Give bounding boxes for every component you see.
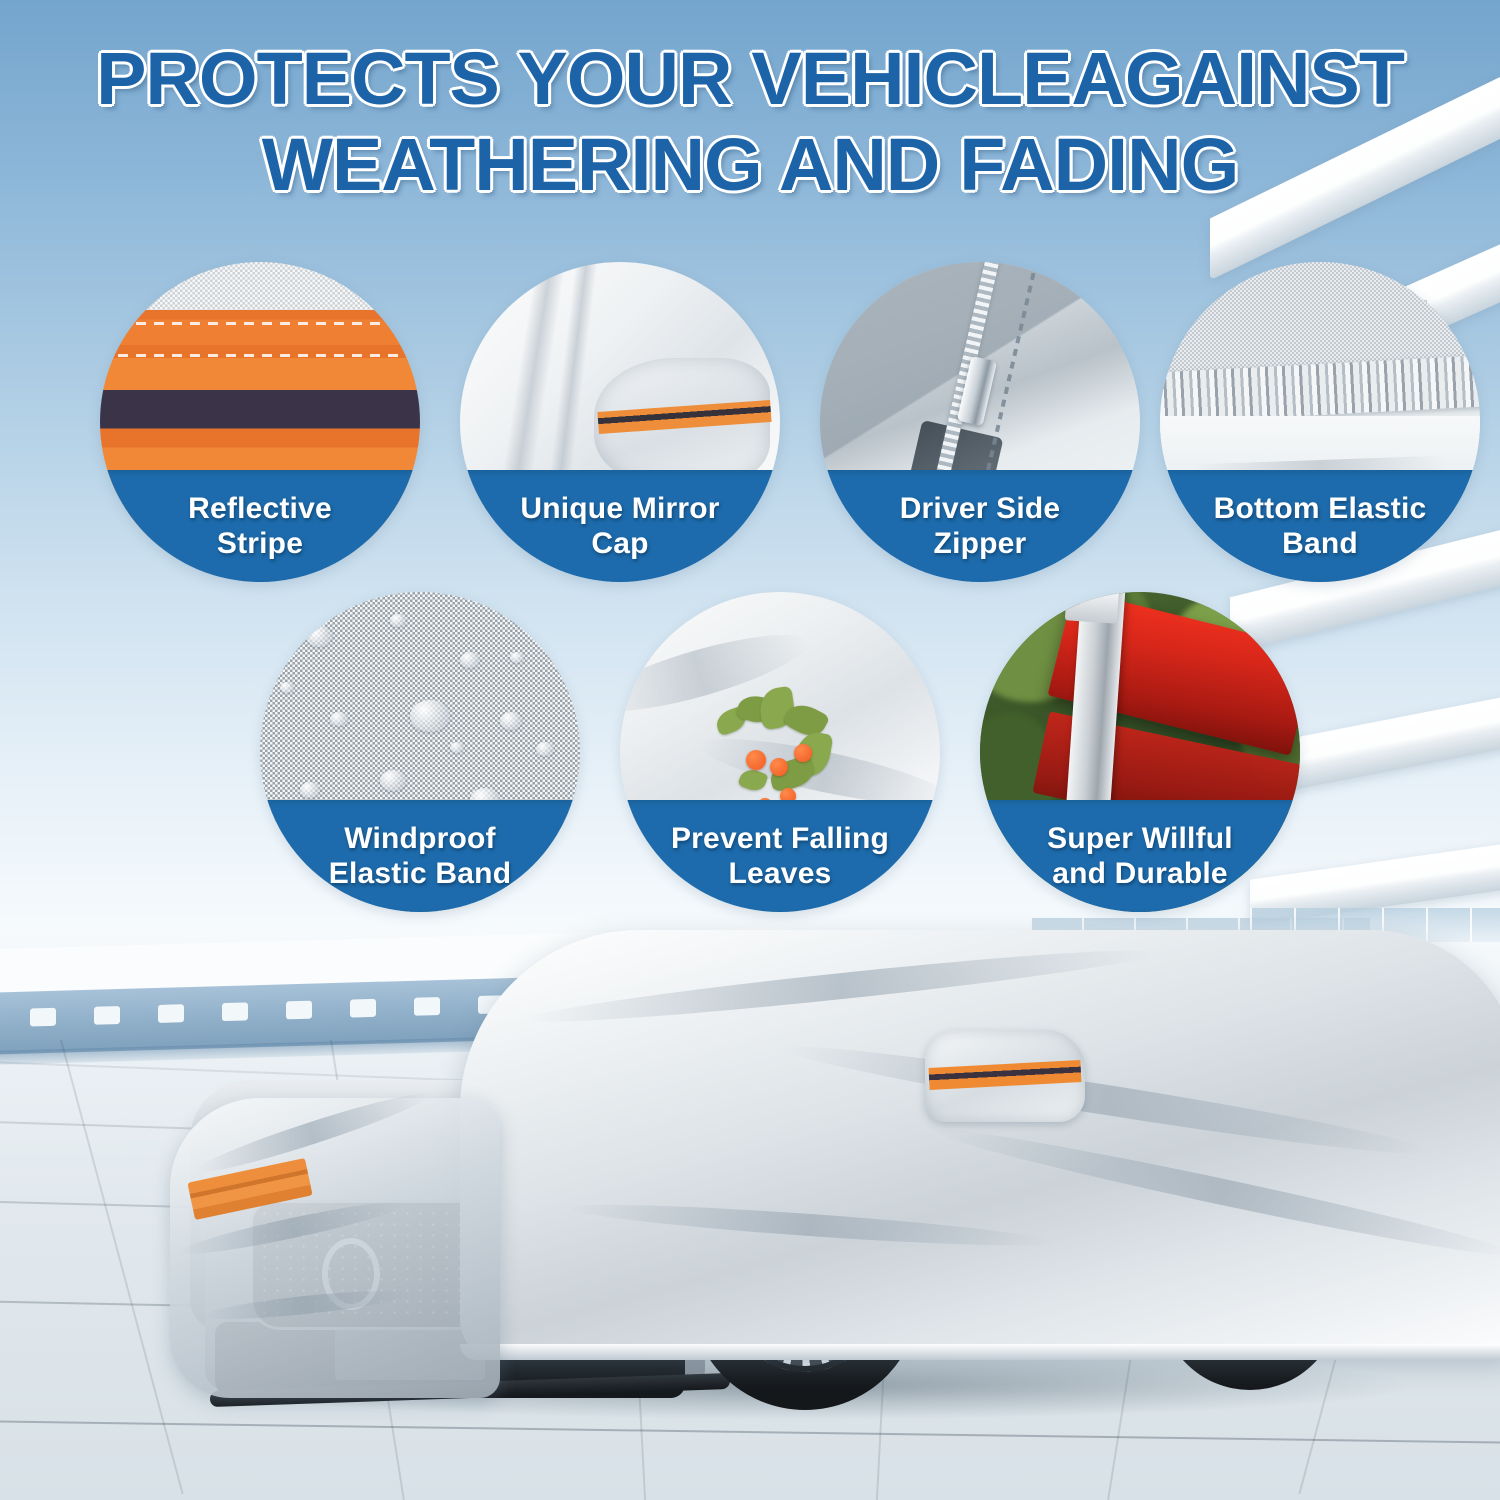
water-bead [306,626,332,647]
stitch-line [100,322,420,325]
feature-label: Windproof Elastic Band [317,821,523,891]
car-cover-front [170,1098,500,1398]
feature-label: Prevent Falling Leaves [659,821,901,891]
headline-line-2: WEATHERING AND FADING [0,122,1500,208]
cover-hem [460,1344,1500,1360]
cover-crease [566,1197,1054,1253]
cover-crease [524,940,1159,1032]
feature-windproof-elastic-band[interactable]: Windproof Elastic Band [260,592,580,912]
mesh-texture-top [100,262,420,310]
berry [746,750,766,770]
feature-super-willful-and-durable[interactable]: Super Willful and Durable [980,592,1300,912]
feature-label-band: Unique Mirror Cap [460,470,780,582]
page-title: PROTECTS YOUR VEHICLEAGAINST WEATHERING … [0,36,1500,208]
feature-label: Bottom Elastic Band [1202,491,1439,561]
water-bead [330,712,348,726]
water-bead [390,614,406,627]
feature-label-band: Prevent Falling Leaves [620,800,940,912]
water-bead [500,712,522,730]
feature-prevent-falling-leaves[interactable]: Prevent Falling Leaves [620,592,940,912]
water-bead [410,700,450,732]
feature-label: Reflective Stripe [176,491,344,561]
car-cover-rear [460,930,1500,1360]
feature-label-band: Super Willful and Durable [980,800,1300,912]
upper-fabric [1160,262,1480,371]
feature-label-band: Reflective Stripe [100,470,420,582]
feature-unique-mirror-cap[interactable]: Unique Mirror Cap [460,262,780,582]
feature-driver-side-zipper[interactable]: Driver Side Zipper [820,262,1140,582]
product-infographic: PROTECTS YOUR VEHICLEAGAINST WEATHERING … [0,0,1500,1500]
water-bead [300,782,320,798]
mirror-pocket-stripe [929,1060,1082,1090]
cover-fold [203,1285,408,1324]
feature-label: Driver Side Zipper [888,491,1073,561]
hero-car-with-cover [130,930,1460,1470]
wall-window [30,1008,56,1027]
water-bead [460,652,480,668]
feature-label-band: Windproof Elastic Band [260,800,580,912]
feature-label: Unique Mirror Cap [508,491,731,561]
wall-window [94,1006,120,1025]
cover-crease [780,1034,1434,1166]
headline-line-1: PROTECTS YOUR VEHICLEAGAINST [0,36,1500,122]
feature-bottom-elastic-band[interactable]: Bottom Elastic Band [1160,262,1480,582]
berry [794,744,812,762]
water-bead [380,770,406,791]
stitch-line [100,354,420,357]
berry [770,758,788,776]
water-bead [510,652,524,663]
feature-label-band: Driver Side Zipper [820,470,1140,582]
feature-reflective-stripe[interactable]: Reflective Stripe [100,262,420,582]
feature-label-band: Bottom Elastic Band [1160,470,1480,582]
water-bead [280,682,294,693]
cover-mirror-pocket [925,1030,1085,1122]
feature-label: Super Willful and Durable [1035,821,1245,891]
water-bead [450,742,464,753]
water-bead [536,742,554,756]
fabric-strap-top [1065,592,1119,623]
